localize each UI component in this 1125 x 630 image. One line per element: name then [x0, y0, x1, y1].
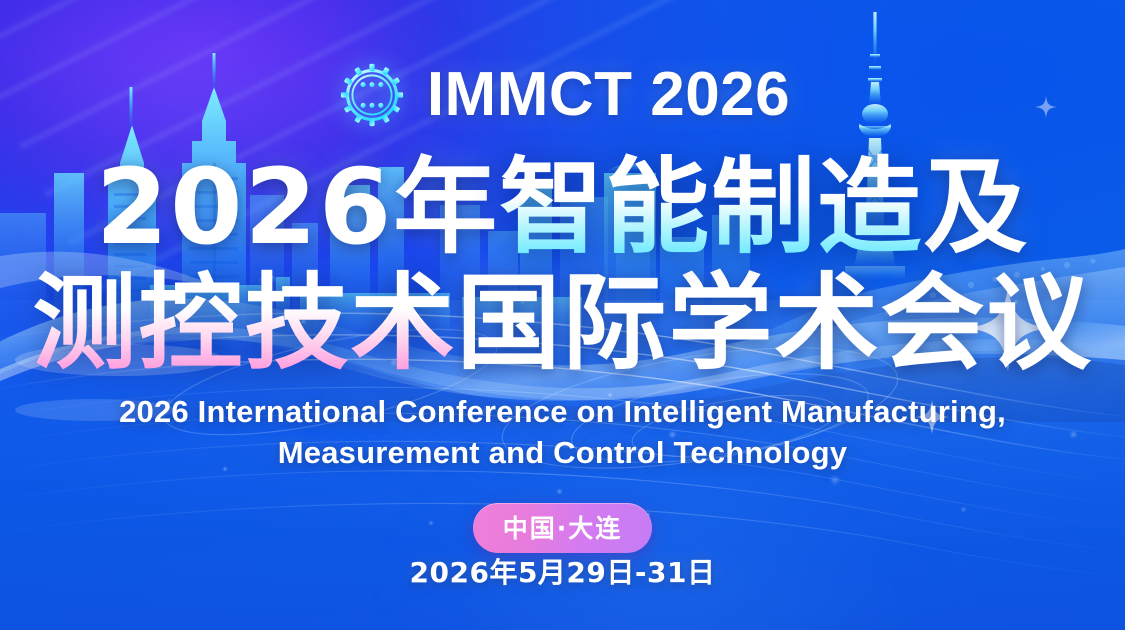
logo-row: IMMCT 2026 — [0, 58, 1125, 132]
english-subtitle-line-2: Measurement and Control Technology — [0, 433, 1125, 474]
english-subtitle: 2026 International Conference on Intelli… — [0, 392, 1125, 474]
conference-banner: IMMCT 2026 2026年智能制造及 测控技术国际学术会议 2026 In… — [0, 0, 1125, 630]
english-subtitle-line-1: 2026 International Conference on Intelli… — [0, 392, 1125, 433]
chinese-title-line-1: 2026年智能制造及 — [0, 152, 1125, 262]
conference-acronym: IMMCT 2026 — [427, 64, 790, 126]
title-seg-international-conference: 国际学术会议 — [457, 262, 1093, 384]
chinese-title: 2026年智能制造及 测控技术国际学术会议 — [0, 152, 1125, 378]
gear-circuit-icon — [335, 58, 409, 132]
location-badge: 中国·大连 — [473, 503, 653, 553]
title-seg-year: 2026年 — [96, 146, 499, 268]
title-seg-and: 及 — [923, 146, 1029, 268]
banner-content: IMMCT 2026 2026年智能制造及 测控技术国际学术会议 2026 In… — [0, 0, 1125, 630]
location-badge-wrap: 中国·大连 — [0, 503, 1125, 553]
event-date: 2026年5月29日-31日 — [0, 551, 1125, 591]
chinese-title-line-2: 测控技术国际学术会议 — [0, 268, 1125, 378]
title-seg-measurement-control: 测控技术 — [32, 262, 456, 384]
title-seg-intelligent-manufacturing: 智能制造 — [499, 146, 923, 268]
